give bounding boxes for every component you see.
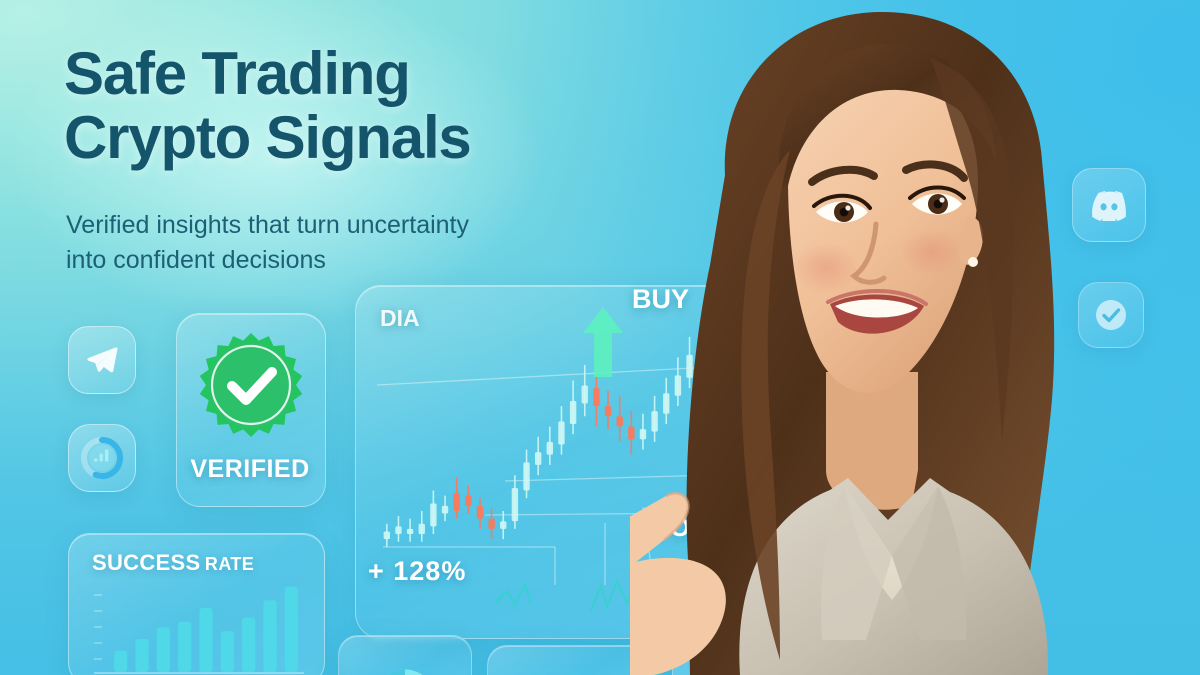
candle [605,406,611,416]
verified-badge [196,330,306,440]
candle [512,488,518,521]
cheek-left [792,242,860,294]
bar [221,631,234,672]
bar [199,608,212,672]
mini-sparkline [495,577,639,611]
subhead-line-2: into confident decisions [66,243,626,278]
candle [593,388,599,406]
candle [407,529,413,534]
bar [135,639,148,672]
candle [500,521,506,529]
chart-ticker-label: DIA [380,305,420,332]
candle [384,531,390,539]
bar [157,627,170,672]
bar [114,651,127,672]
telegram-icon [85,343,119,377]
avatar [630,0,1200,675]
hero-banner: Safe Trading Crypto Signals Verified ins… [0,0,1200,675]
candle [465,496,471,506]
bottom-panel-center [487,645,654,675]
bar [242,618,255,672]
page-title: Safe Trading Crypto Signals [64,42,664,170]
telegram-icon-tile[interactable] [68,326,136,394]
headline-line-2: Crypto Signals [64,106,664,170]
up-arrow-icon [583,307,623,377]
analytics-donut-icon [77,433,127,483]
candle [488,519,494,529]
candle [453,493,459,511]
headline-line-1: Safe Trading [64,42,664,106]
candle [395,526,401,534]
bar [178,622,191,672]
subhead-line-1: Verified insights that turn uncertainty [66,208,626,243]
candle [477,506,483,519]
progress-donut-icon [355,648,455,675]
bar [263,600,276,672]
earring [968,257,978,267]
candle [535,452,541,465]
candle [616,416,622,426]
chart-gain-label: + 128% [368,556,466,587]
candle [558,421,564,444]
success-rate-bar-chart [68,533,323,675]
candle [430,503,436,526]
candle [570,401,576,424]
cheek-right [900,228,964,276]
candle [419,524,425,534]
bar-series [114,587,298,672]
candle [442,506,448,514]
analytics-icon-tile[interactable] [68,424,136,492]
candle [582,386,588,404]
candle [523,462,529,490]
check-rosette-icon [196,330,306,440]
verified-label: VERIFIED [176,455,324,484]
page-subtitle: Verified insights that turn uncertainty … [66,208,626,277]
bar [285,587,298,672]
candle [547,442,553,455]
